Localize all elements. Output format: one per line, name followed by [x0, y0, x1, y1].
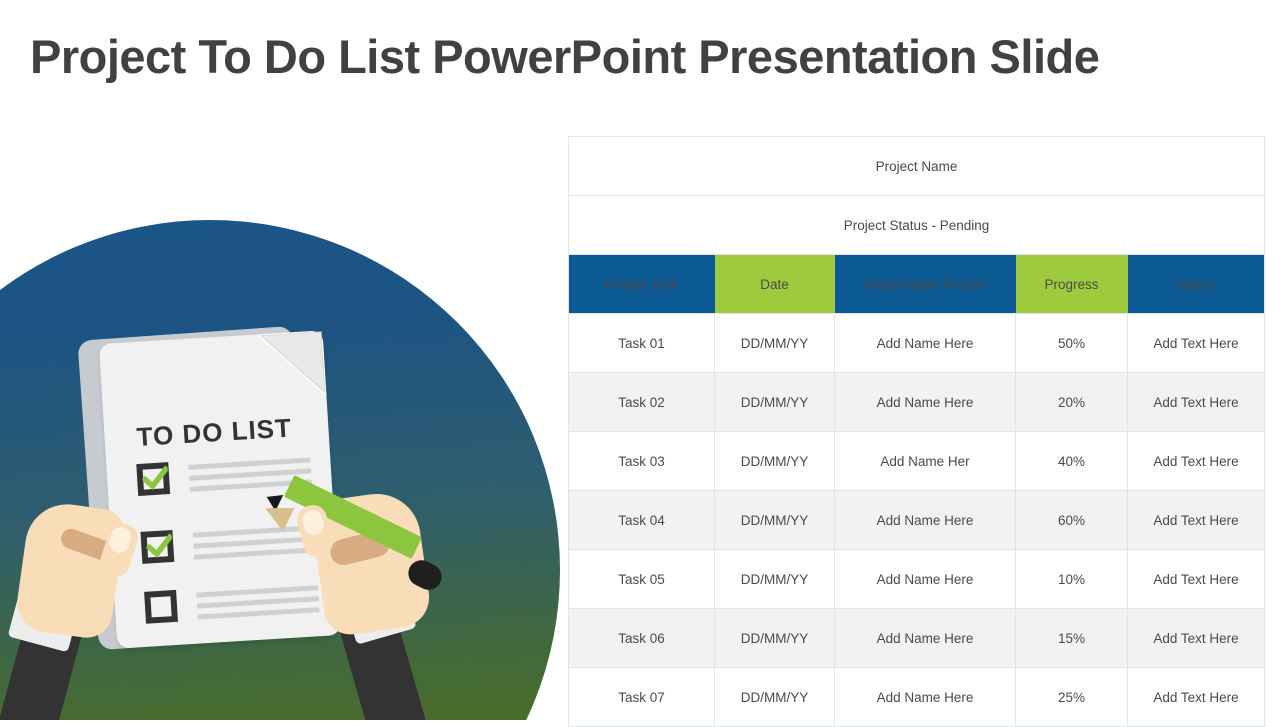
cell-task[interactable]: Task 05: [569, 550, 715, 609]
cell-progress[interactable]: 60%: [1016, 491, 1128, 550]
to-do-list-illustration: TO DO LIST: [0, 205, 560, 720]
cell-person[interactable]: Add Name Here: [835, 314, 1016, 373]
cell-date[interactable]: DD/MM/YY: [715, 609, 835, 668]
checkbox-icon: [144, 590, 178, 624]
cell-date[interactable]: DD/MM/YY: [715, 550, 835, 609]
cell-progress[interactable]: 15%: [1016, 609, 1128, 668]
column-header-responsible-person[interactable]: Responsible Person: [835, 255, 1016, 314]
table-header-row: Project Task Date Responsible Person Pro…: [569, 255, 1265, 314]
cell-task[interactable]: Task 04: [569, 491, 715, 550]
cell-progress[interactable]: 50%: [1016, 314, 1128, 373]
page-title: Project To Do List PowerPoint Presentati…: [30, 32, 1230, 81]
paper-heading: TO DO LIST: [136, 413, 293, 453]
table-row: Task 03 DD/MM/YY Add Name Her 40% Add Te…: [569, 432, 1265, 491]
text-lines: [196, 585, 322, 626]
table-row: Task 05 DD/MM/YY Add Name Here 10% Add T…: [569, 550, 1265, 609]
table-row: Task 02 DD/MM/YY Add Name Here 20% Add T…: [569, 373, 1265, 432]
cell-person[interactable]: Add Name Here: [835, 668, 1016, 727]
cell-person[interactable]: Add Name Here: [835, 491, 1016, 550]
cell-date[interactable]: DD/MM/YY: [715, 668, 835, 727]
cell-date[interactable]: DD/MM/YY: [715, 491, 835, 550]
cell-person[interactable]: Add Name Here: [835, 373, 1016, 432]
cell-progress[interactable]: 20%: [1016, 373, 1128, 432]
table-row: Task 01 DD/MM/YY Add Name Here 50% Add T…: [569, 314, 1265, 373]
project-name-banner[interactable]: Project Name: [569, 137, 1265, 196]
cell-progress[interactable]: 10%: [1016, 550, 1128, 609]
column-header-status[interactable]: Status: [1128, 255, 1265, 314]
cell-status[interactable]: Add Text Here: [1128, 668, 1265, 727]
cell-progress[interactable]: 25%: [1016, 668, 1128, 727]
column-header-progress[interactable]: Progress: [1016, 255, 1128, 314]
column-header-project-task[interactable]: Project Task: [569, 255, 715, 314]
cell-task[interactable]: Task 02: [569, 373, 715, 432]
cell-task[interactable]: Task 06: [569, 609, 715, 668]
slide-canvas: Project To Do List PowerPoint Presentati…: [0, 0, 1280, 720]
cell-task[interactable]: Task 03: [569, 432, 715, 491]
cell-task[interactable]: Task 07: [569, 668, 715, 727]
cell-status[interactable]: Add Text Here: [1128, 314, 1265, 373]
cell-progress[interactable]: 40%: [1016, 432, 1128, 491]
cell-person[interactable]: Add Name Here: [835, 609, 1016, 668]
cell-date[interactable]: DD/MM/YY: [715, 314, 835, 373]
cell-date[interactable]: DD/MM/YY: [715, 373, 835, 432]
cell-status[interactable]: Add Text Here: [1128, 609, 1265, 668]
checkmark-icon: [146, 533, 174, 561]
cell-status[interactable]: Add Text Here: [1128, 432, 1265, 491]
project-task-table: Project Name Project Status - Pending Pr…: [568, 136, 1265, 727]
project-status-banner-row: Project Status - Pending: [569, 196, 1265, 255]
cell-status[interactable]: Add Text Here: [1128, 550, 1265, 609]
paper-fold-flap: [263, 333, 324, 394]
cell-status[interactable]: Add Text Here: [1128, 491, 1265, 550]
column-header-date[interactable]: Date: [715, 255, 835, 314]
project-name-banner-row: Project Name: [569, 137, 1265, 196]
cell-person[interactable]: Add Name Her: [835, 432, 1016, 491]
cell-task[interactable]: Task 01: [569, 314, 715, 373]
cell-person[interactable]: Add Name Here: [835, 550, 1016, 609]
project-status-banner[interactable]: Project Status - Pending: [569, 196, 1265, 255]
cell-date[interactable]: DD/MM/YY: [715, 432, 835, 491]
cell-status[interactable]: Add Text Here: [1128, 373, 1265, 432]
checkmark-icon: [141, 465, 169, 493]
table-row: Task 04 DD/MM/YY Add Name Here 60% Add T…: [569, 491, 1265, 550]
table-row: Task 06 DD/MM/YY Add Name Here 15% Add T…: [569, 609, 1265, 668]
table-row: Task 07 DD/MM/YY Add Name Here 25% Add T…: [569, 668, 1265, 727]
